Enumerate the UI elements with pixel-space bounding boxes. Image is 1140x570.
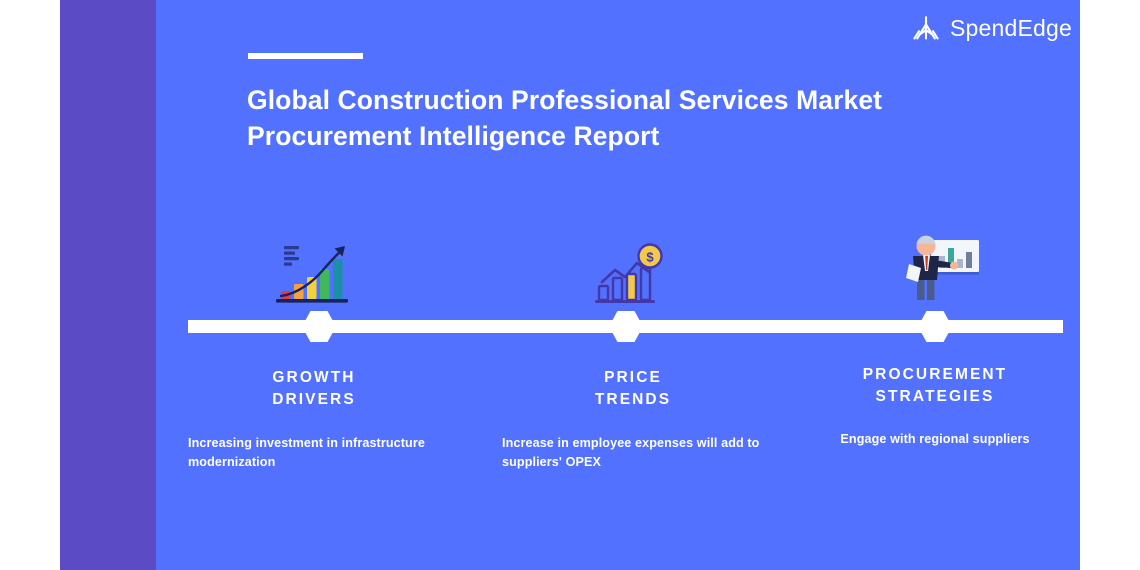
left-purple-band	[60, 0, 156, 570]
brand-name: SpendEdge	[950, 17, 1072, 40]
milestone-heading: PRICE TRENDS	[487, 367, 779, 412]
milestone-description: Engage with regional suppliers	[806, 430, 1064, 450]
price-chart-coin-icon: $	[487, 228, 779, 306]
page-title: Global Construction Professional Service…	[247, 83, 1047, 155]
milestone-description: Increasing investment in infrastructure …	[174, 434, 454, 473]
report-slide: SpendEdge Global Construction Profession…	[0, 0, 1140, 570]
milestone-price-trends[interactable]: $ PRICE TRENDS Increase in employee expe…	[487, 228, 779, 473]
milestone-heading: GROWTH DRIVERS	[174, 367, 454, 412]
brand-logo[interactable]: SpendEdge	[911, 14, 1072, 42]
milestone-procurement-strategies[interactable]: PROCUREMENT STRATEGIES Engage with regio…	[806, 224, 1064, 449]
milestone-heading: PROCUREMENT STRATEGIES	[806, 364, 1064, 409]
svg-text:$: $	[646, 249, 654, 264]
presenter-whiteboard-icon	[806, 224, 1064, 302]
milestone-description: Increase in employee expenses will add t…	[487, 434, 779, 473]
milestone-growth-drivers[interactable]: GROWTH DRIVERS Increasing investment in …	[174, 228, 454, 473]
spendedge-trident-icon	[911, 14, 941, 42]
title-accent-rule	[248, 53, 363, 59]
growth-bar-chart-arrow-icon	[174, 228, 454, 306]
